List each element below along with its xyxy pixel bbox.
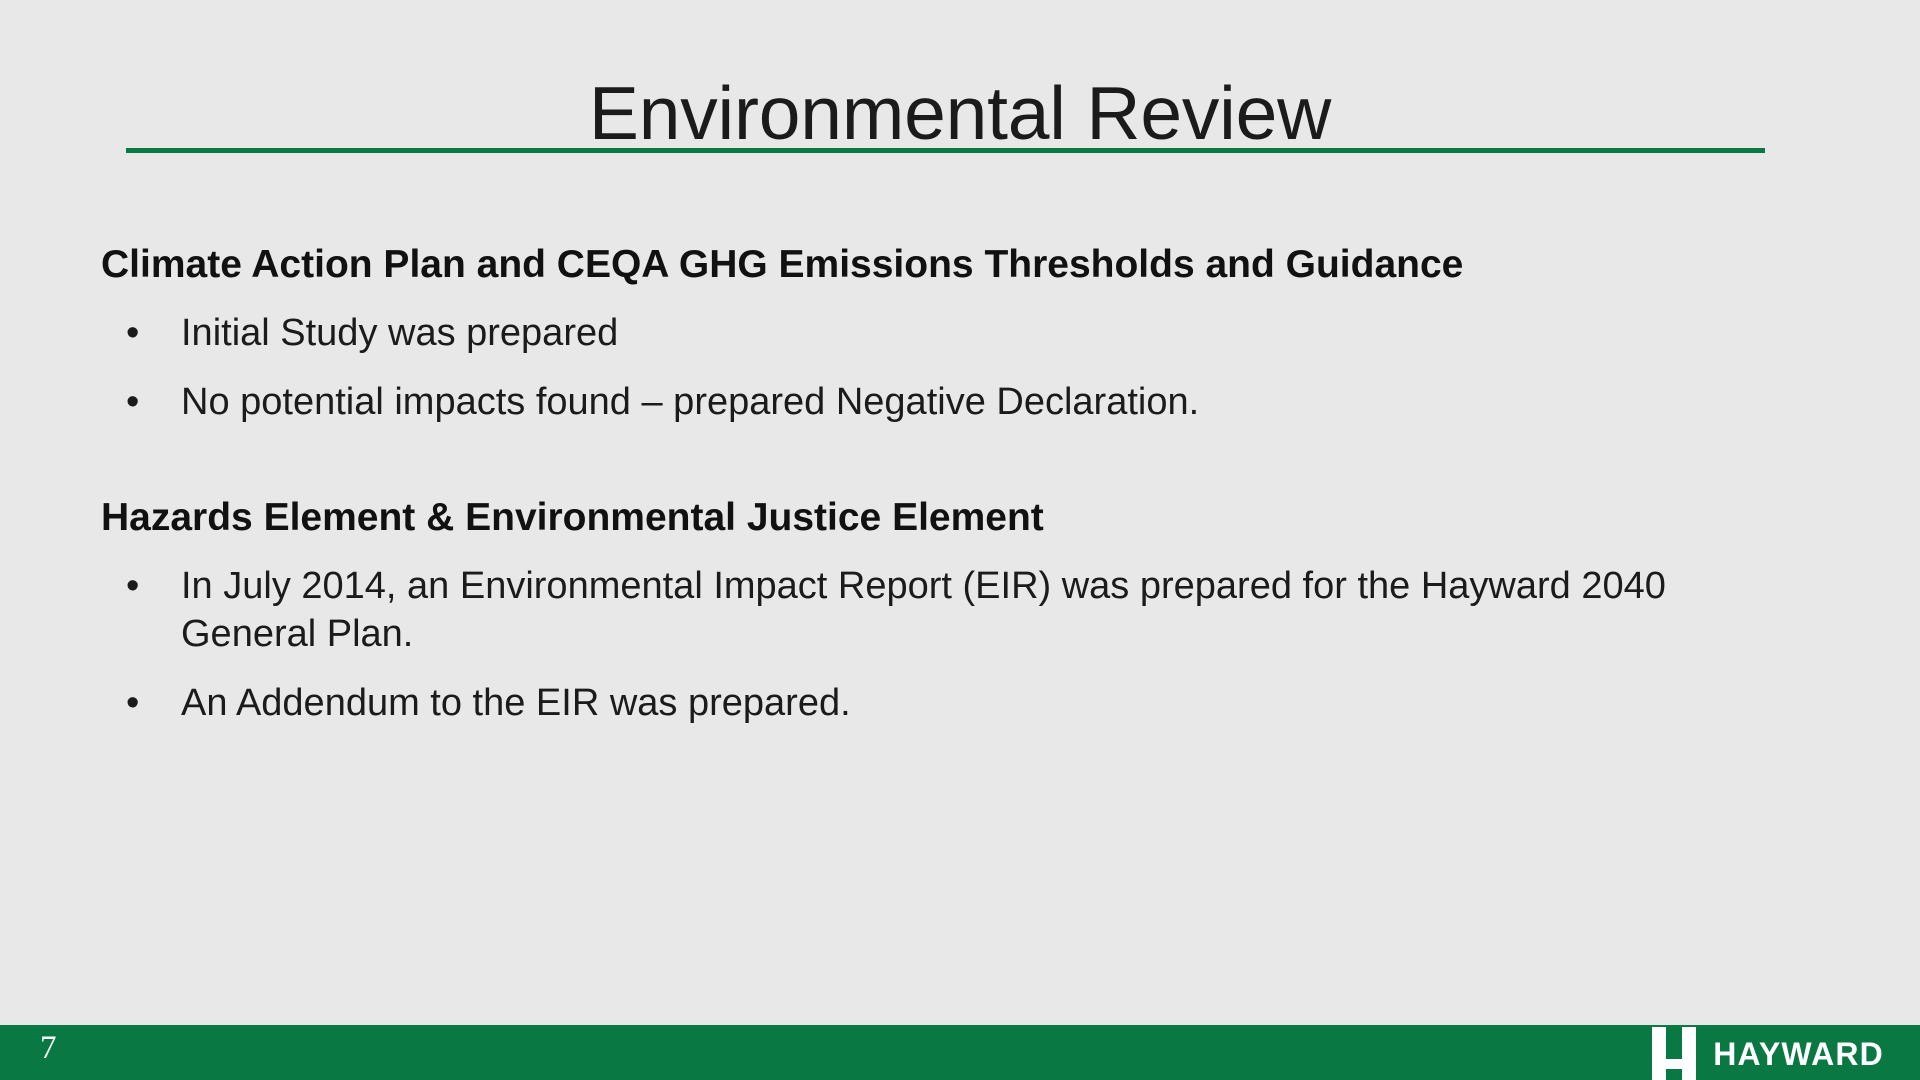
bullet-dot-icon: • — [126, 679, 139, 727]
hayward-logo: HAYWARD — [1652, 1025, 1884, 1080]
list-item-text: No potential impacts found – prepared Ne… — [181, 381, 1199, 423]
slide-footer-bar: 7 HAYWARD — [0, 1025, 1920, 1080]
hayward-wordmark: HAYWARD — [1713, 1038, 1884, 1070]
section-heading-climate-action-plan: Climate Action Plan and CEQA GHG Emissio… — [0, 242, 1920, 288]
page-title: Environmental Review — [0, 68, 1920, 158]
section-heading-hazards-element: Hazards Element & Environmental Justice … — [0, 495, 1920, 541]
list-item: • An Addendum to the EIR was prepared. — [0, 679, 1920, 727]
slide-body: Climate Action Plan and CEQA GHG Emissio… — [0, 242, 1920, 727]
section-spacer — [0, 427, 1920, 495]
list-item: • In July 2014, an Environmental Impact … — [0, 562, 1920, 659]
page-number: 7 — [40, 1032, 57, 1065]
hayward-h-mark-icon — [1652, 1027, 1696, 1080]
list-item: • No potential impacts found – prepared … — [0, 378, 1920, 426]
list-item-text: Initial Study was prepared — [181, 312, 618, 354]
bullet-dot-icon: • — [126, 309, 139, 357]
list-item-text: An Addendum to the EIR was prepared. — [181, 682, 851, 724]
list-item: • Initial Study was prepared — [0, 309, 1920, 357]
bullet-list-hazards-element: • In July 2014, an Environmental Impact … — [0, 562, 1920, 728]
bullet-dot-icon: • — [126, 562, 139, 610]
list-item-text: In July 2014, an Environmental Impact Re… — [181, 565, 1666, 655]
bullet-dot-icon: • — [126, 378, 139, 426]
title-divider-rule — [126, 148, 1765, 153]
bullet-list-climate-action-plan: • Initial Study was prepared • No potent… — [0, 309, 1920, 427]
slide-canvas: Environmental Review Climate Action Plan… — [0, 0, 1920, 1080]
